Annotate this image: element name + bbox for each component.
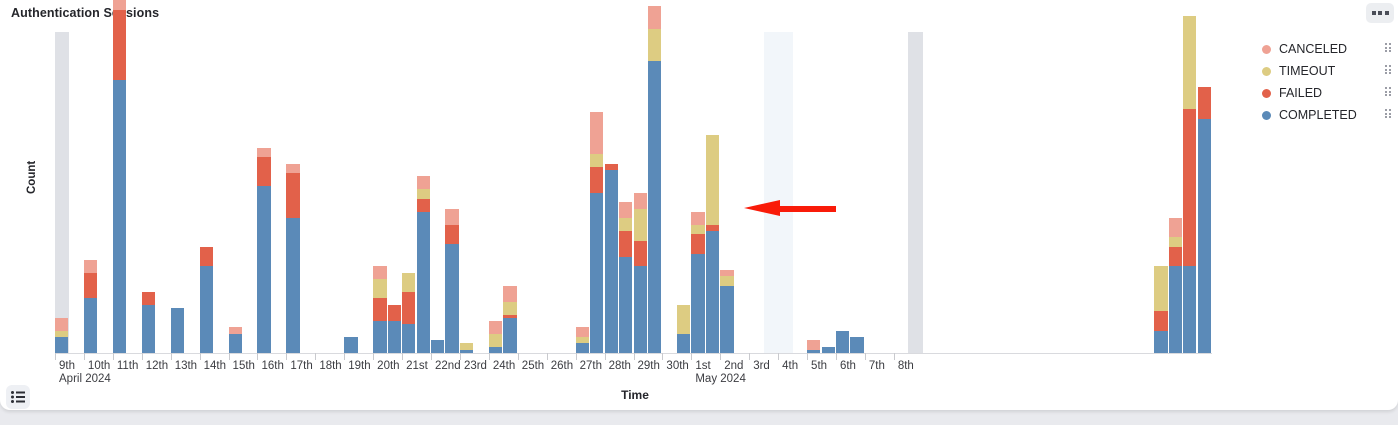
bar-segment-failed bbox=[286, 173, 299, 218]
x-axis-tick bbox=[749, 353, 750, 360]
x-axis-tick-label: 8th bbox=[898, 360, 914, 372]
menu-dot bbox=[1378, 11, 1382, 15]
x-axis-tick bbox=[460, 353, 461, 360]
page-title: Authentication Sessions bbox=[11, 6, 159, 20]
bar-segment-completed bbox=[1154, 331, 1167, 353]
x-axis-tick bbox=[691, 353, 692, 360]
drag-handle-icon[interactable] bbox=[1385, 43, 1392, 54]
bar-segment-failed bbox=[373, 298, 386, 320]
x-axis-tick bbox=[142, 353, 143, 360]
chart-bar[interactable] bbox=[590, 112, 603, 353]
x-axis-tick bbox=[257, 353, 258, 360]
bar-segment-canceled bbox=[1169, 218, 1182, 237]
bar-segment-timeout bbox=[1169, 237, 1182, 247]
y-axis-label: Count bbox=[26, 161, 38, 194]
bar-segment-completed bbox=[648, 61, 661, 353]
kebab-menu-icon[interactable] bbox=[1366, 3, 1394, 23]
chart-bar[interactable] bbox=[605, 164, 618, 353]
chart-bar[interactable] bbox=[200, 247, 213, 353]
bar-segment-canceled bbox=[55, 318, 68, 331]
x-axis-tick-label: 14th bbox=[204, 360, 226, 372]
chart-bar[interactable] bbox=[286, 164, 299, 353]
chart-bar[interactable] bbox=[388, 305, 401, 353]
x-axis-tick-label: 23rd bbox=[464, 360, 487, 372]
bar-segment-completed bbox=[388, 321, 401, 353]
bar-segment-completed bbox=[503, 318, 516, 353]
x-axis-tick bbox=[547, 353, 548, 360]
bar-segment-completed bbox=[691, 254, 704, 354]
x-axis-tick-label: 19th bbox=[348, 360, 370, 372]
chart-bar[interactable] bbox=[55, 318, 68, 353]
bar-segment-failed bbox=[113, 10, 126, 81]
x-axis-tick bbox=[171, 353, 172, 360]
bar-segment-completed bbox=[576, 343, 589, 353]
bar-segment-failed bbox=[590, 167, 603, 193]
legend-swatch-icon bbox=[1262, 67, 1271, 76]
bar-segment-failed bbox=[1154, 311, 1167, 330]
x-axis-tick-label: 15th bbox=[233, 360, 255, 372]
chart-bar[interactable] bbox=[373, 266, 386, 353]
x-axis-tick bbox=[373, 353, 374, 360]
x-axis-tick-label: 1st bbox=[695, 360, 710, 372]
x-axis-tick bbox=[836, 353, 837, 360]
bar-segment-failed bbox=[1183, 109, 1196, 266]
x-axis-tick bbox=[605, 353, 606, 360]
chart-bar[interactable] bbox=[489, 321, 502, 353]
bar-segment-completed bbox=[1183, 266, 1196, 353]
bar-segment-timeout bbox=[1183, 16, 1196, 109]
chart-bar[interactable] bbox=[84, 260, 97, 353]
bar-segment-completed bbox=[677, 334, 690, 353]
bar-segment-completed bbox=[634, 266, 647, 353]
x-axis-tick-label: 17th bbox=[290, 360, 312, 372]
x-axis-tick bbox=[229, 353, 230, 360]
x-axis-tick bbox=[431, 353, 432, 360]
legend-item-label: CANCELED bbox=[1279, 42, 1347, 56]
legend-item-canceled[interactable]: CANCELED bbox=[1262, 38, 1398, 60]
bar-segment-timeout bbox=[417, 189, 430, 199]
x-axis-month-label: April 2024 bbox=[59, 373, 111, 385]
legend-swatch-icon bbox=[1262, 111, 1271, 120]
x-axis-tick-label: 16th bbox=[261, 360, 283, 372]
bar-segment-canceled bbox=[691, 212, 704, 225]
bar-segment-canceled bbox=[634, 193, 647, 209]
bar-segment-canceled bbox=[445, 209, 458, 225]
bar-segment-timeout bbox=[648, 29, 661, 61]
chart-bar[interactable] bbox=[417, 176, 430, 353]
chart-bar[interactable] bbox=[634, 193, 647, 354]
x-axis-tick-label: 6th bbox=[840, 360, 856, 372]
bar-segment-canceled bbox=[590, 112, 603, 154]
x-axis-tick-label: 9th bbox=[59, 360, 75, 372]
bar-segment-canceled bbox=[619, 202, 632, 218]
x-axis-label: Time bbox=[0, 388, 1270, 402]
bar-segment-timeout bbox=[503, 302, 516, 315]
chart-bar[interactable] bbox=[344, 337, 357, 353]
bar-segment-completed bbox=[229, 334, 242, 353]
x-axis-tick-label: 7th bbox=[869, 360, 885, 372]
bar-segment-timeout bbox=[706, 135, 719, 225]
legend-item-label: COMPLETED bbox=[1279, 108, 1357, 122]
x-axis-tick-label: 4th bbox=[782, 360, 798, 372]
bar-segment-timeout bbox=[402, 273, 415, 292]
chart-bar[interactable] bbox=[850, 337, 863, 353]
bar-segment-failed bbox=[417, 199, 430, 212]
bar-segment-timeout bbox=[590, 154, 603, 167]
highlight-band bbox=[908, 32, 922, 353]
bar-segment-completed bbox=[417, 212, 430, 353]
bar-segment-failed bbox=[1169, 247, 1182, 266]
chart-bar[interactable] bbox=[1154, 266, 1167, 353]
legend-item-failed[interactable]: FAILED bbox=[1262, 82, 1398, 104]
bar-segment-failed bbox=[388, 305, 401, 321]
bar-segment-timeout bbox=[634, 209, 647, 241]
chart-bar[interactable] bbox=[691, 212, 704, 353]
x-axis-tick bbox=[778, 353, 779, 360]
chart-bar[interactable] bbox=[445, 209, 458, 353]
bar-segment-timeout bbox=[720, 276, 733, 286]
bar-segment-completed bbox=[590, 193, 603, 353]
bar-segment-completed bbox=[373, 321, 386, 353]
chart-bar[interactable] bbox=[431, 340, 444, 353]
bar-segment-canceled bbox=[417, 176, 430, 189]
bar-segment-completed bbox=[171, 308, 184, 353]
x-axis-tick bbox=[84, 353, 85, 360]
chart-bar[interactable] bbox=[1183, 16, 1196, 353]
bar-segment-failed bbox=[691, 234, 704, 253]
x-axis-tick bbox=[576, 353, 577, 360]
chart-bar[interactable] bbox=[576, 327, 589, 353]
chart-bar[interactable] bbox=[648, 6, 661, 353]
bar-segment-canceled bbox=[489, 321, 502, 334]
bar-segment-failed bbox=[1198, 87, 1211, 119]
bar-segment-completed bbox=[619, 257, 632, 353]
bar-segment-completed bbox=[142, 305, 155, 353]
highlight-band bbox=[764, 32, 793, 353]
plot-region bbox=[55, 32, 1212, 353]
bar-segment-failed bbox=[619, 231, 632, 257]
bar-segment-failed bbox=[200, 247, 213, 266]
bar-segment-completed bbox=[1169, 266, 1182, 353]
x-axis-tick bbox=[894, 353, 895, 360]
x-axis-tick-label: 11th bbox=[117, 360, 139, 372]
bar-segment-completed bbox=[200, 266, 213, 353]
x-axis-tick-label: 22nd bbox=[435, 360, 461, 372]
x-axis-tick-label: 21st bbox=[406, 360, 428, 372]
x-axis-tick bbox=[518, 353, 519, 360]
bar-segment-failed bbox=[445, 225, 458, 244]
chart-bar[interactable] bbox=[503, 286, 516, 353]
menu-dot bbox=[1372, 11, 1376, 15]
bar-segment-completed bbox=[720, 286, 733, 353]
bar-segment-timeout bbox=[1154, 266, 1167, 311]
x-axis-tick bbox=[720, 353, 721, 360]
chart-bar[interactable] bbox=[619, 202, 632, 353]
x-axis-tick-label: 5th bbox=[811, 360, 827, 372]
x-axis-tick-label: 13th bbox=[175, 360, 197, 372]
chart-bar[interactable] bbox=[807, 340, 820, 353]
chart-bar[interactable] bbox=[1169, 218, 1182, 353]
chart-area: Count 9th10th11th12th13th14th15th16th17t… bbox=[0, 24, 1398, 384]
legend-item-completed[interactable]: COMPLETED bbox=[1262, 104, 1398, 126]
bar-segment-timeout bbox=[677, 305, 690, 334]
bar-segment-timeout bbox=[691, 225, 704, 235]
bar-segment-canceled bbox=[576, 327, 589, 337]
x-axis-tick bbox=[807, 353, 808, 360]
bar-segment-completed bbox=[605, 170, 618, 353]
bar-segment-failed bbox=[257, 157, 270, 186]
bar-segment-timeout bbox=[489, 334, 502, 347]
x-axis-tick bbox=[315, 353, 316, 360]
bar-segment-canceled bbox=[648, 6, 661, 28]
chart-bar[interactable] bbox=[402, 273, 415, 353]
chart-panel: Authentication Sessions Count 9th10th11t… bbox=[0, 0, 1398, 410]
highlight-band bbox=[55, 32, 69, 353]
chart-bar[interactable] bbox=[142, 292, 155, 353]
x-axis-tick-label: 25th bbox=[522, 360, 544, 372]
x-axis-tick bbox=[489, 353, 490, 360]
bar-segment-completed bbox=[55, 337, 68, 353]
menu-dot bbox=[1385, 11, 1389, 15]
chart-bar[interactable] bbox=[229, 327, 242, 353]
bar-segment-failed bbox=[634, 241, 647, 267]
chart-bar[interactable] bbox=[113, 0, 126, 353]
bar-segment-completed bbox=[431, 340, 444, 353]
bar-segment-completed bbox=[1198, 119, 1211, 353]
bar-segment-completed bbox=[445, 244, 458, 353]
x-axis-tick bbox=[286, 353, 287, 360]
bar-segment-completed bbox=[113, 80, 126, 353]
x-axis-tick bbox=[634, 353, 635, 360]
bar-segment-failed bbox=[84, 273, 97, 299]
bar-segment-failed bbox=[402, 292, 415, 324]
bar-segment-completed bbox=[706, 231, 719, 353]
chart-bar[interactable] bbox=[1198, 87, 1211, 353]
x-axis-tick bbox=[402, 353, 403, 360]
bar-segment-timeout bbox=[373, 279, 386, 298]
annotation-arrow-icon bbox=[744, 200, 836, 217]
bar-segment-canceled bbox=[113, 0, 126, 10]
x-axis-tick-label: 3rd bbox=[753, 360, 770, 372]
x-axis-tick bbox=[113, 353, 114, 360]
bar-segment-canceled bbox=[807, 340, 820, 350]
x-axis-month-label: May 2024 bbox=[695, 373, 746, 385]
chart-bar[interactable] bbox=[720, 270, 733, 353]
x-axis-tick-label: 20th bbox=[377, 360, 399, 372]
x-axis-tick-label: 18th bbox=[319, 360, 341, 372]
bar-segment-canceled bbox=[503, 286, 516, 302]
x-axis-tick-label: 27th bbox=[580, 360, 602, 372]
drag-handle-icon[interactable] bbox=[1385, 87, 1392, 98]
list-view-icon[interactable] bbox=[6, 385, 30, 409]
x-axis-tick-label: 26th bbox=[551, 360, 573, 372]
x-axis-tick bbox=[200, 353, 201, 360]
x-axis-tick-label: 12th bbox=[146, 360, 168, 372]
chart-legend: CANCELEDTIMEOUTFAILEDCOMPLETED bbox=[1262, 38, 1398, 126]
bar-segment-completed bbox=[257, 186, 270, 353]
x-axis-tick bbox=[865, 353, 866, 360]
chart-bar[interactable] bbox=[836, 331, 849, 353]
x-axis-tick-label: 10th bbox=[88, 360, 110, 372]
bar-segment-canceled bbox=[373, 266, 386, 279]
legend-item-timeout[interactable]: TIMEOUT bbox=[1262, 60, 1398, 82]
legend-item-label: TIMEOUT bbox=[1279, 64, 1335, 78]
bar-segment-canceled bbox=[257, 148, 270, 158]
arrow-head bbox=[744, 200, 780, 216]
legend-swatch-icon bbox=[1262, 89, 1271, 98]
x-axis-tick bbox=[344, 353, 345, 360]
bar-segment-completed bbox=[286, 218, 299, 353]
bar-segment-timeout bbox=[619, 218, 632, 231]
legend-swatch-icon bbox=[1262, 45, 1271, 54]
chart-bar[interactable] bbox=[171, 308, 184, 353]
x-axis-tick-label: 29th bbox=[638, 360, 660, 372]
bar-segment-completed bbox=[850, 337, 863, 353]
drag-handle-icon[interactable] bbox=[1385, 65, 1392, 76]
bar-segment-failed bbox=[142, 292, 155, 305]
chart-bar[interactable] bbox=[257, 148, 270, 353]
drag-handle-icon[interactable] bbox=[1385, 109, 1392, 120]
bar-segment-completed bbox=[344, 337, 357, 353]
x-axis-tick-label: 24th bbox=[493, 360, 515, 372]
bar-segment-canceled bbox=[286, 164, 299, 174]
x-axis-tick-label: 30th bbox=[666, 360, 688, 372]
arrow-shaft bbox=[778, 206, 836, 212]
bar-segment-completed bbox=[84, 298, 97, 353]
x-axis-tick-label: 28th bbox=[609, 360, 631, 372]
bar-segment-completed bbox=[836, 331, 849, 353]
bar-segment-completed bbox=[402, 324, 415, 353]
x-axis-tick bbox=[55, 353, 56, 360]
chart-bar[interactable] bbox=[460, 343, 473, 353]
x-axis-tick bbox=[662, 353, 663, 360]
chart-bar[interactable] bbox=[706, 135, 719, 353]
chart-bar[interactable] bbox=[677, 305, 690, 353]
x-axis-tick-label: 2nd bbox=[724, 360, 743, 372]
bar-segment-canceled bbox=[84, 260, 97, 273]
legend-item-label: FAILED bbox=[1279, 86, 1322, 100]
